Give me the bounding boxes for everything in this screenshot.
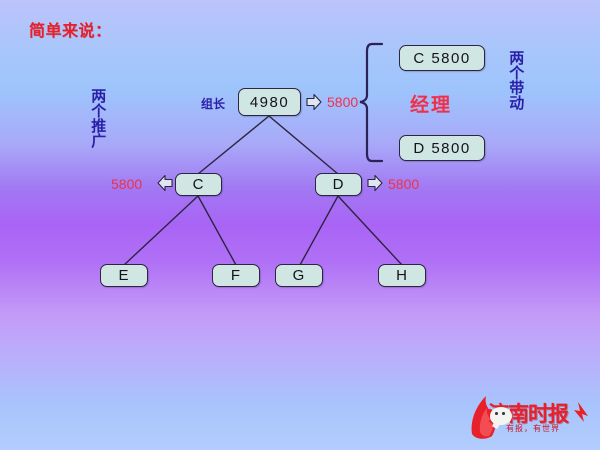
tree-node-d[interactable]: D <box>315 173 362 196</box>
tree-node-f[interactable]: F <box>212 264 260 287</box>
bracket-box-c[interactable]: C 5800 <box>399 45 485 71</box>
annotation-right-vertical: 两个带动 <box>508 50 523 110</box>
payout-c: 5800 <box>111 176 142 192</box>
page-title: 简单来说： <box>29 17 112 41</box>
arrow-right-icon <box>306 93 322 111</box>
tree-node-root[interactable]: 4980 <box>238 88 301 116</box>
logo-tagline: 有报，有世界 <box>506 423 560 434</box>
payout-root: 5800 <box>327 94 358 110</box>
curly-bracket <box>356 40 386 165</box>
manager-label: 经理 <box>410 90 452 117</box>
arrow-right-icon-d <box>367 174 383 192</box>
slide-canvas: 简单来说： 两个推广 两个带动 组长 4980 5800 C 5800 D 58… <box>0 0 600 450</box>
tree-node-g[interactable]: G <box>275 264 323 287</box>
tree-node-h[interactable]: H <box>378 264 426 287</box>
leader-label: 组长 <box>201 95 225 112</box>
annotation-left-vertical: 两个推广 <box>90 88 105 148</box>
bracket-box-d[interactable]: D 5800 <box>399 135 485 161</box>
wechat-icon <box>490 407 512 425</box>
tree-node-e[interactable]: E <box>100 264 148 287</box>
watermark-logo: 济南时报 有报，有世界 <box>466 390 596 446</box>
payout-d: 5800 <box>388 176 419 192</box>
tree-node-c[interactable]: C <box>175 173 222 196</box>
arrow-left-icon <box>157 174 173 192</box>
